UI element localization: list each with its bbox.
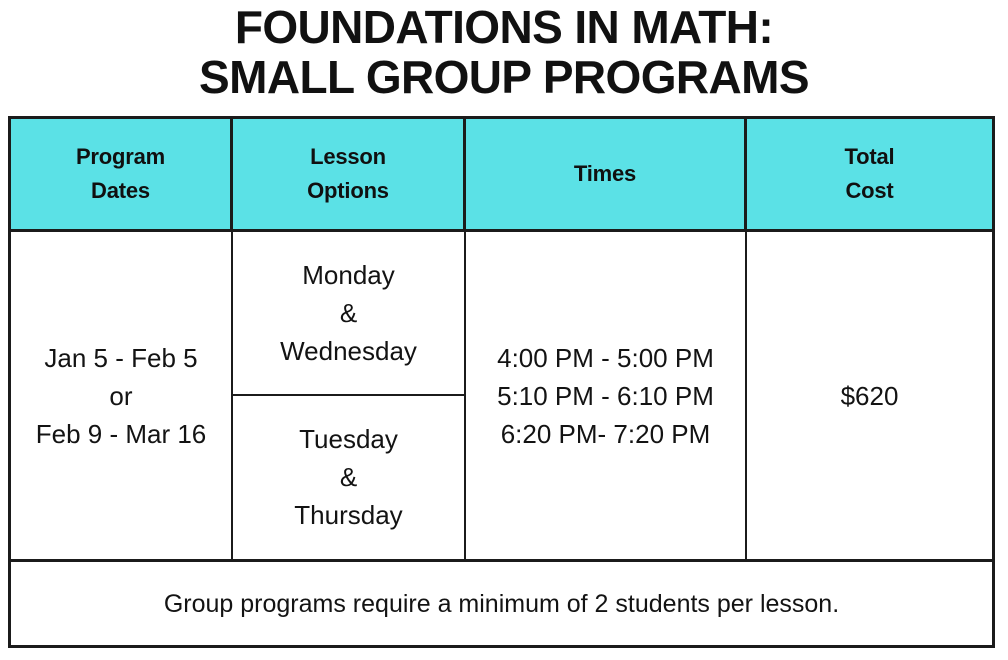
program-dates-option-2: Feb 9 - Mar 16 (36, 415, 207, 453)
lesson-option-tue-thu-line-2: & (294, 458, 402, 496)
lesson-option-mon-wed-line-3: Wednesday (280, 332, 417, 370)
time-slot-3: 6:20 PM- 7:20 PM (497, 415, 714, 453)
page-title-line-2: SMALL GROUP PROGRAMS (0, 52, 1008, 102)
lesson-option-tue-thu: Tuesday & Thursday (233, 396, 464, 560)
lesson-option-mon-wed-line-2: & (280, 294, 417, 332)
header-lesson-options-line-1: Lesson (307, 140, 389, 174)
header-lesson-options: Lesson Options (233, 119, 466, 229)
program-dates-separator: or (36, 377, 207, 415)
header-total-cost: Total Cost (747, 119, 992, 229)
lesson-option-tue-thu-line-1: Tuesday (294, 420, 402, 458)
lesson-option-mon-wed: Monday & Wednesday (233, 232, 464, 396)
header-program-dates: Program Dates (11, 119, 233, 229)
header-lesson-options-line-2: Options (307, 174, 389, 208)
programs-table: Program Dates Lesson Options Times Total… (8, 116, 995, 648)
time-slot-1: 4:00 PM - 5:00 PM (497, 339, 714, 377)
cell-times: 4:00 PM - 5:00 PM 5:10 PM - 6:10 PM 6:20… (466, 232, 747, 559)
lesson-option-tue-thu-line-3: Thursday (294, 496, 402, 534)
header-total-cost-line-2: Cost (845, 174, 895, 208)
header-program-dates-line-1: Program (76, 140, 165, 174)
page-title-line-1: FOUNDATIONS IN MATH: (0, 2, 1008, 52)
header-total-cost-line-1: Total (845, 140, 895, 174)
header-times-line-1: Times (574, 157, 636, 191)
header-times: Times (466, 119, 747, 229)
table-body-row: Jan 5 - Feb 5 or Feb 9 - Mar 16 Monday &… (11, 232, 992, 562)
header-program-dates-line-2: Dates (76, 174, 165, 208)
programs-table-grid: Program Dates Lesson Options Times Total… (11, 119, 992, 645)
page-title: FOUNDATIONS IN MATH: SMALL GROUP PROGRAM… (0, 0, 1008, 102)
program-dates-option-1: Jan 5 - Feb 5 (36, 339, 207, 377)
cell-program-dates: Jan 5 - Feb 5 or Feb 9 - Mar 16 (11, 232, 233, 559)
time-slot-2: 5:10 PM - 6:10 PM (497, 377, 714, 415)
table-header-row: Program Dates Lesson Options Times Total… (11, 119, 992, 232)
cell-lesson-options: Monday & Wednesday Tuesday & Thursday (233, 232, 466, 559)
table-footer-note: Group programs require a minimum of 2 st… (11, 562, 992, 645)
cell-total-cost: $620 (747, 232, 992, 559)
lesson-option-mon-wed-line-1: Monday (280, 256, 417, 294)
